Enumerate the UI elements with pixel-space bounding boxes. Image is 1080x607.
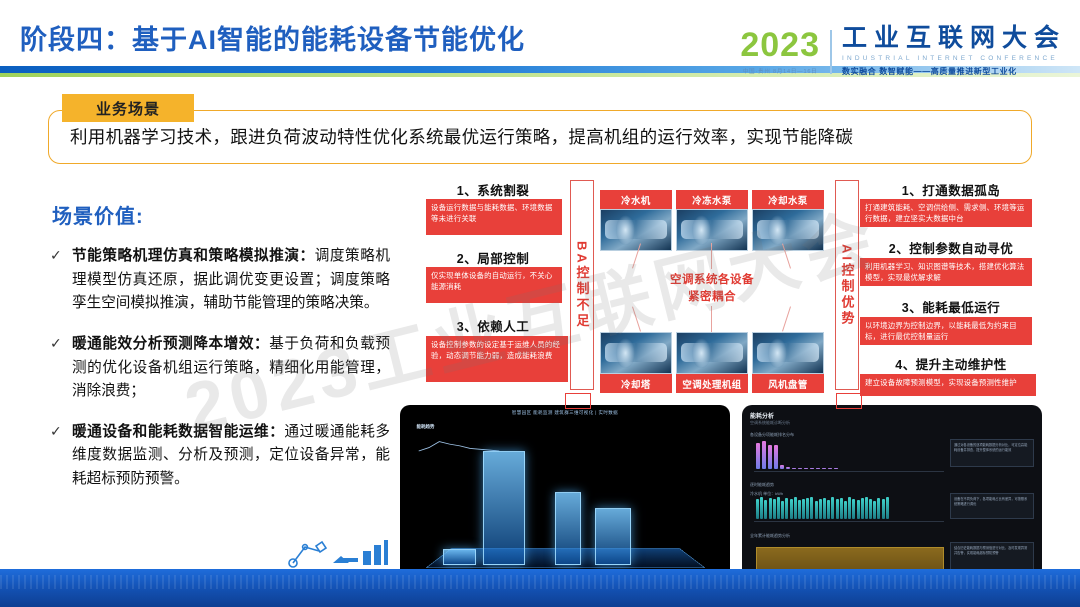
equipment-label: 冷水机: [600, 190, 672, 209]
ba-item-1-body: 设备运行数据与能耗数据、环境数据等未进行关联: [426, 199, 562, 235]
list-item-body: 暖通能效分析预测降本增效：基于负荷和负载预测的优化设备机组运行策略，精细化用能管…: [72, 333, 390, 404]
ai-vertical-label-text: AI控制优势: [838, 244, 857, 327]
scene-value-list: ✓ 节能策略机理仿真和策略模拟推演：调度策略机理模型仿真还原，据此调优变更设置；…: [50, 245, 390, 509]
equipment-photo: [600, 209, 672, 251]
robot-arm-factory-icon: [285, 533, 395, 569]
factory-decoration: [285, 533, 395, 569]
logo-divider: [830, 30, 832, 74]
ba-vertical-label: BA控制不足: [570, 180, 594, 390]
ai-item-3-body: 以环境边界为控制边界，以能耗最低为约束目标，进行最优控制量运行: [860, 317, 1032, 345]
screenshot-digital-twin[interactable]: 智慧园区 能耗监测 建筑群三维可视化 | 实时数据 能耗趋势 51 WORLD: [400, 405, 730, 595]
arrow-down-right-icon: [782, 306, 791, 331]
list-item-body: 暖通设备和能耗数据智能运维：通过暖通能耗多维度数据监测、分析及预测，定位设备异常…: [72, 421, 390, 492]
coupling-caption: 空调系统各设备 紧密耦合: [612, 272, 812, 305]
ai-item-2-body: 利用机器学习、知识图谱等技术，搭建优化算法模型，实现最优解求解: [860, 258, 1032, 286]
ba-item-3-head: 3、依赖人工: [418, 316, 568, 335]
ba-item-3-body: 设备控制参数的设定基于运维人员的经验，动态调节能力弱，造成能耗浪费: [426, 336, 568, 382]
ba-item-2-body: 仅实现单体设备的自动运行，不关心能源消耗: [426, 267, 562, 303]
logo-year: 2023: [740, 28, 820, 62]
twin-building-4: [443, 549, 476, 564]
equipment-photo: [752, 209, 824, 251]
logo-year-subtitle: 中国·贵州 8月14日—16日: [740, 67, 820, 75]
twin-building-1: [483, 451, 526, 565]
dashboard-note-1: 通过对各设备的逐项能耗数据分析对比，可定位高能耗设备并排查，提升整体系统的运行能…: [950, 439, 1034, 467]
equipment-label: 冷却水泵: [752, 190, 824, 209]
connector-box-right: [836, 393, 862, 409]
equipment-label: 冷却塔: [600, 374, 672, 393]
dashboard-note-3: 结合历史能耗数据与预测值进行对比，及时发现异常并告警，实现能耗超标预防预警: [950, 542, 1034, 572]
twin-title: 智慧园区 能耗监测 建筑群三维可视化 | 实时数据: [400, 410, 730, 416]
list-item: ✓ 暖通能效分析预测降本增效：基于负荷和负载预测的优化设备机组运行策略，精细化用…: [50, 333, 390, 404]
business-scenario-text: 利用机器学习技术，跟进负荷波动特性优化系统最优运行策略，提高机组的运行效率，实现…: [70, 124, 1020, 149]
check-icon: ✓: [50, 245, 72, 316]
arrow-up-center-icon: [711, 243, 712, 269]
dashboard-panel1-label: 各设备分项能耗排名分布: [750, 432, 794, 438]
list-item: ✓ 暖通设备和能耗数据智能运维：通过暖通能耗多维度数据监测、分析及预测，定位设备…: [50, 421, 390, 492]
list-item: ✓ 节能策略机理仿真和策略模拟推演：调度策略机理模型仿真还原，据此调优变更设置；…: [50, 245, 390, 316]
dashboard-area-chart-3: [756, 547, 944, 571]
list-item-body: 节能策略机理仿真和策略模拟推演：调度策略机理模型仿真还原，据此调优变更设置；调度…: [72, 245, 390, 316]
dashboard-panel2-label: 逐时能耗趋势: [750, 482, 774, 488]
ai-item-1-body: 打通建筑能耗、空调供给侧、需求侧、环境等运行数据，建立坚实大数据中台: [860, 199, 1032, 227]
equipment-card-cooling-tower: 冷却塔: [600, 332, 672, 393]
list-item-bold: 节能策略机理仿真和策略模拟推演：: [72, 248, 315, 264]
page-title: 阶段四：基于AI智能的能耗设备节能优化: [20, 18, 525, 57]
twin-building-3: [595, 508, 631, 565]
ba-item-2-head: 2、局部控制: [418, 248, 568, 267]
ba-vertical-label-text: BA控制不足: [573, 241, 592, 330]
equipment-card-chiller: 冷水机: [600, 190, 672, 251]
footer-wave: [0, 569, 1080, 607]
equipment-label: 风机盘管: [752, 374, 824, 393]
connector-box-left: [565, 393, 591, 409]
arrow-down-center-icon: [711, 306, 712, 332]
screenshot-energy-dashboard[interactable]: 能耗分析 空调系统能耗诊断分析 各设备分项能耗排名分布 通过对各设备的逐项能耗数…: [742, 405, 1042, 595]
dashboard-title: 能耗分析: [750, 411, 774, 420]
scene-value-title: 场景价值:: [52, 200, 144, 229]
logo-slogan: 数实融合 数智赋能——高质量推进新型工业化: [842, 66, 1066, 77]
dashboard-bar-chart-1: [756, 441, 838, 469]
equipment-photo: [676, 332, 748, 374]
ai-item-1-head: 1、打通数据孤岛: [866, 180, 1036, 199]
equipment-card-cooling-pump: 冷却水泵: [752, 190, 824, 251]
ai-item-2-head: 2、控制参数自动寻优: [866, 238, 1036, 257]
list-item-bold: 暖通能效分析预测降本增效：: [72, 336, 269, 352]
equipment-card-fan-coil: 风机盘管: [752, 332, 824, 393]
dashboard-axis-2: [754, 521, 944, 522]
equipment-label: 空调处理机组: [676, 374, 748, 393]
slide-root: 阶段四：基于AI智能的能耗设备节能优化 2023 中国·贵州 8月14日—16日…: [0, 0, 1080, 607]
twin-building-2: [555, 492, 581, 564]
ai-item-4-body: 建立设备故障预测模型，实现设备预测性维护: [860, 374, 1036, 396]
conference-logo: 2023 中国·贵州 8月14日—16日 工业互联网大会 INDUSTRIAL …: [740, 26, 1066, 77]
equipment-photo: [752, 332, 824, 374]
ai-vertical-label: AI控制优势: [835, 180, 859, 390]
twin-panel-label: 能耗趋势: [417, 424, 503, 430]
equipment-label: 冷冻水泵: [676, 190, 748, 209]
ai-item-3-head: 3、能耗最低运行: [866, 297, 1036, 316]
equipment-card-chilled-pump: 冷冻水泵: [676, 190, 748, 251]
logo-title-en: INDUSTRIAL INTERNET CONFERENCE: [842, 55, 1066, 62]
equipment-photo: [600, 332, 672, 374]
check-icon: ✓: [50, 333, 72, 404]
ai-item-4-head: 4、提升主动维护性: [866, 354, 1036, 373]
coupling-line-2: 紧密耦合: [612, 289, 812, 306]
list-item-bold: 暖通设备和能耗数据智能运维：: [72, 424, 284, 440]
dashboard-bar-chart-2: [756, 497, 889, 519]
dashboard-axis-1: [754, 471, 944, 472]
dashboard-subtitle: 空调系统能耗诊断分析: [750, 420, 790, 426]
arrow-down-left-icon: [632, 306, 641, 331]
ba-item-1-head: 1、系统割裂: [418, 180, 568, 199]
equipment-card-ahu: 空调处理机组: [676, 332, 748, 393]
dashboard-panel3-label: 全年累计能耗趋势分析: [750, 533, 790, 539]
check-icon: ✓: [50, 421, 72, 492]
coupling-line-1: 空调系统各设备: [612, 272, 812, 289]
logo-title-cn: 工业互联网大会: [842, 26, 1066, 51]
business-scenario-tag: 业务场景: [62, 94, 194, 122]
dashboard-note-2: 设备在不同负荷下，各项能耗占比有差异，可按照系统策略进行调优: [950, 493, 1034, 519]
